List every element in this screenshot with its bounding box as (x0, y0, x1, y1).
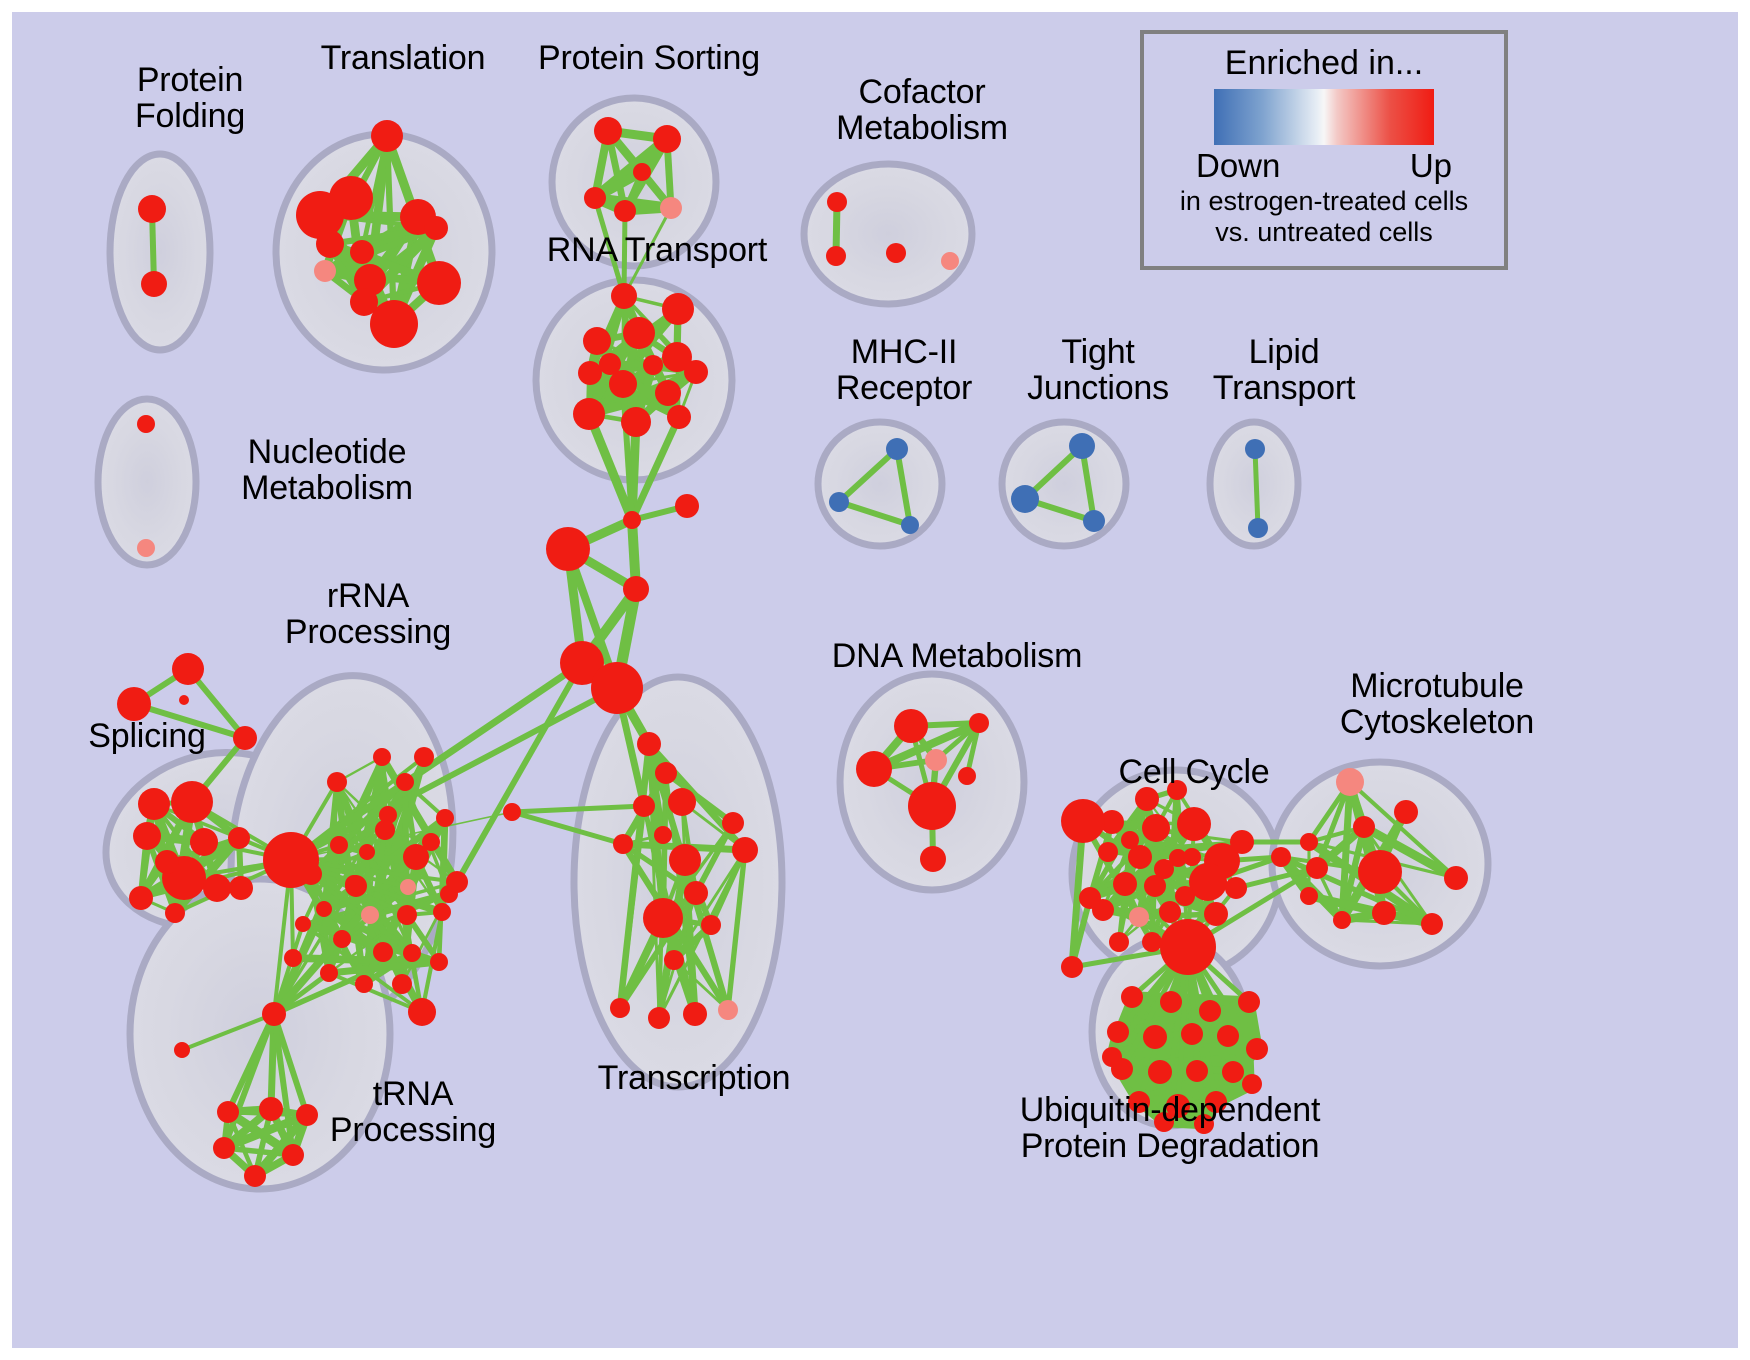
network-node[interactable] (190, 828, 218, 856)
legend-panel: Enriched in... Down Up in estrogen-treat… (1140, 30, 1508, 270)
network-node[interactable] (1148, 1060, 1172, 1084)
network-node[interactable] (1177, 807, 1211, 841)
network-node[interactable] (623, 317, 655, 349)
network-node[interactable] (1246, 1038, 1268, 1060)
network-node[interactable] (908, 782, 956, 830)
network-node[interactable] (133, 822, 161, 850)
network-node[interactable] (422, 833, 440, 851)
network-node[interactable] (1121, 986, 1143, 1008)
network-node[interactable] (1102, 1047, 1122, 1067)
network-node[interactable] (826, 246, 846, 266)
network-node[interactable] (138, 788, 170, 820)
network-node[interactable] (578, 361, 602, 385)
legend-up-label: Up (1410, 147, 1452, 185)
network-node[interactable] (400, 879, 416, 895)
network-node[interactable] (583, 327, 611, 355)
network-node[interactable] (263, 832, 319, 888)
network-node[interactable] (1160, 991, 1182, 1013)
network-node[interactable] (1107, 1021, 1129, 1043)
network-node[interactable] (392, 974, 412, 994)
network-node[interactable] (829, 492, 849, 512)
cluster-ellipse-mhc-ii-receptor (818, 422, 942, 546)
network-node[interactable] (203, 874, 231, 902)
network-node[interactable] (683, 1002, 707, 1026)
network-node[interactable] (623, 576, 649, 602)
network-node[interactable] (345, 875, 363, 893)
figure-root: Protein FoldingTranslationProtein Sortin… (0, 0, 1750, 1360)
network-node[interactable] (1333, 911, 1351, 929)
network-node[interactable] (213, 1137, 235, 1159)
network-edge (1255, 449, 1258, 528)
network-node[interactable] (165, 903, 185, 923)
network-node[interactable] (233, 726, 257, 750)
network-node[interactable] (546, 527, 590, 571)
cluster-ellipse-protein-folding (110, 154, 210, 350)
network-node[interactable] (958, 767, 976, 785)
network-node[interactable] (320, 964, 338, 982)
network-node[interactable] (886, 438, 908, 460)
network-node[interactable] (137, 539, 155, 557)
network-node[interactable] (633, 795, 655, 817)
network-node[interactable] (1394, 800, 1418, 824)
network-node[interactable] (1230, 830, 1254, 854)
network-node[interactable] (599, 353, 621, 375)
network-node[interactable] (1271, 847, 1291, 867)
network-node[interactable] (417, 261, 461, 305)
network-node[interactable] (1225, 877, 1247, 899)
network-edge (457, 663, 582, 882)
network-node[interactable] (296, 1104, 318, 1126)
network-node[interactable] (1175, 886, 1195, 906)
network-node[interactable] (433, 903, 451, 921)
network-node[interactable] (228, 827, 250, 849)
network-node[interactable] (654, 826, 672, 844)
network-node[interactable] (1121, 831, 1139, 849)
network-node[interactable] (621, 407, 651, 437)
cluster-ellipse-cofactor-metabolism (804, 164, 972, 304)
network-node[interactable] (664, 950, 684, 970)
network-node[interactable] (722, 812, 744, 834)
legend-caption-line-1: in estrogen-treated cells (1180, 186, 1468, 216)
network-node[interactable] (1142, 814, 1170, 842)
network-node[interactable] (1336, 768, 1364, 796)
network-node[interactable] (327, 772, 347, 792)
network-node[interactable] (684, 360, 708, 384)
network-node[interactable] (1199, 1000, 1221, 1022)
network-node[interactable] (662, 293, 694, 325)
network-node[interactable] (436, 809, 454, 827)
network-node[interactable] (584, 187, 606, 209)
network-node[interactable] (333, 930, 351, 948)
network-node[interactable] (1069, 433, 1095, 459)
legend-down-label: Down (1196, 147, 1280, 185)
network-node[interactable] (920, 846, 946, 872)
network-node[interactable] (1113, 872, 1137, 896)
network-node[interactable] (594, 117, 622, 145)
network-node[interactable] (1245, 439, 1265, 459)
network-node[interactable] (396, 773, 414, 791)
network-node[interactable] (424, 216, 448, 240)
network-node[interactable] (1300, 887, 1318, 905)
network-node[interactable] (375, 820, 395, 840)
network-node[interactable] (610, 998, 630, 1018)
network-node[interactable] (129, 886, 153, 910)
network-node[interactable] (1217, 1025, 1239, 1047)
network-node[interactable] (316, 901, 332, 917)
network-node[interactable] (1300, 833, 1318, 851)
legend-title: Enriched in... (1225, 44, 1423, 83)
network-node[interactable] (1186, 1060, 1208, 1082)
network-node[interactable] (1154, 1112, 1174, 1132)
network-node[interactable] (827, 192, 847, 212)
network-node[interactable] (330, 836, 348, 854)
network-node[interactable] (901, 516, 919, 534)
network-node[interactable] (643, 898, 683, 938)
network-node[interactable] (655, 380, 681, 406)
network-node[interactable] (718, 1000, 738, 1020)
network-node[interactable] (244, 1165, 266, 1187)
network-node[interactable] (403, 944, 421, 962)
network-node[interactable] (1109, 932, 1129, 952)
network-node[interactable] (262, 1002, 286, 1026)
network-node[interactable] (611, 283, 637, 309)
network-node[interactable] (1183, 848, 1201, 866)
network-node[interactable] (1204, 902, 1228, 926)
network-node[interactable] (174, 1042, 190, 1058)
network-node[interactable] (886, 243, 906, 263)
network-node[interactable] (1135, 787, 1159, 811)
network-node[interactable] (573, 398, 605, 430)
network-node[interactable] (141, 271, 167, 297)
network-node[interactable] (941, 252, 959, 270)
network-node[interactable] (1353, 816, 1375, 838)
network-node[interactable] (1128, 1091, 1150, 1113)
network-node[interactable] (155, 850, 179, 874)
network-node[interactable] (259, 1097, 283, 1121)
network-node[interactable] (295, 916, 311, 932)
network-node[interactable] (1194, 1114, 1214, 1134)
network-node[interactable] (414, 747, 434, 767)
network-node[interactable] (667, 405, 691, 429)
network-node[interactable] (669, 844, 701, 876)
network-node[interactable] (172, 653, 204, 685)
network-node[interactable] (1154, 859, 1174, 879)
cluster-ellipse-tight-junctions (1002, 422, 1126, 546)
legend-endpoints: Down Up (1196, 147, 1452, 185)
network-node[interactable] (1142, 932, 1162, 952)
network-node[interactable] (446, 871, 468, 893)
network-node[interactable] (1242, 1074, 1262, 1094)
network-node[interactable] (643, 355, 663, 375)
network-node[interactable] (138, 195, 166, 223)
network-node[interactable] (430, 953, 448, 971)
network-node[interactable] (1083, 510, 1105, 532)
network-node[interactable] (397, 905, 417, 925)
network-node[interactable] (969, 713, 989, 733)
network-node[interactable] (925, 749, 947, 771)
network-node[interactable] (1061, 956, 1083, 978)
network-node[interactable] (361, 906, 379, 924)
network-node[interactable] (1079, 887, 1101, 909)
network-node[interactable] (1248, 518, 1268, 538)
network-node[interactable] (1181, 1023, 1203, 1045)
network-node[interactable] (370, 300, 418, 348)
network-node[interactable] (1421, 913, 1443, 935)
network-node[interactable] (856, 751, 892, 787)
network-node[interactable] (1238, 991, 1260, 1013)
cluster-ellipse-protein-sorting (552, 98, 716, 266)
network-node[interactable] (1222, 1061, 1244, 1083)
network-node[interactable] (1159, 901, 1181, 923)
network-node[interactable] (1306, 857, 1328, 879)
network-node[interactable] (1011, 485, 1039, 513)
network-node[interactable] (1358, 850, 1402, 894)
network-node[interactable] (633, 163, 651, 181)
network-node[interactable] (1167, 780, 1187, 800)
network-node[interactable] (314, 260, 336, 282)
network-node[interactable] (408, 998, 436, 1026)
network-node[interactable] (284, 949, 302, 967)
network-node[interactable] (117, 687, 151, 721)
network-node[interactable] (503, 803, 521, 821)
network-node[interactable] (655, 762, 677, 784)
network-node[interactable] (282, 1144, 304, 1166)
network-node[interactable] (355, 975, 373, 993)
network-node[interactable] (1444, 866, 1468, 890)
network-node[interactable] (894, 709, 928, 743)
network-node[interactable] (179, 695, 189, 705)
network-node[interactable] (653, 125, 681, 153)
legend-caption-line-2: vs. untreated cells (1215, 217, 1433, 247)
network-node[interactable] (373, 942, 393, 962)
network-node[interactable] (648, 1007, 670, 1029)
network-node[interactable] (675, 494, 699, 518)
network-node[interactable] (217, 1101, 239, 1123)
network-node[interactable] (614, 200, 636, 222)
network-node[interactable] (316, 230, 344, 258)
network-canvas: Protein FoldingTranslationProtein Sortin… (12, 12, 1738, 1348)
network-node[interactable] (1160, 919, 1216, 975)
legend-color-gradient (1214, 89, 1434, 145)
network-node[interactable] (1372, 901, 1396, 925)
network-node[interactable] (701, 915, 721, 935)
network-node[interactable] (668, 788, 696, 816)
network-node[interactable] (359, 844, 375, 860)
network-node[interactable] (591, 662, 643, 714)
network-node[interactable] (660, 197, 682, 219)
network-node[interactable] (137, 415, 155, 433)
network-node[interactable] (373, 748, 391, 766)
network-node[interactable] (371, 120, 403, 152)
network-node[interactable] (1143, 1025, 1167, 1049)
network-node[interactable] (732, 837, 758, 863)
network-node[interactable] (623, 511, 641, 529)
network-node[interactable] (229, 876, 253, 900)
network-node[interactable] (1061, 799, 1105, 843)
network-node[interactable] (1205, 1091, 1227, 1113)
network-node[interactable] (1129, 907, 1149, 927)
network-node[interactable] (1098, 842, 1118, 862)
network-node[interactable] (613, 834, 633, 854)
network-node[interactable] (637, 732, 661, 756)
network-node[interactable] (350, 240, 374, 264)
network-node[interactable] (684, 881, 708, 905)
network-node[interactable] (171, 781, 213, 823)
